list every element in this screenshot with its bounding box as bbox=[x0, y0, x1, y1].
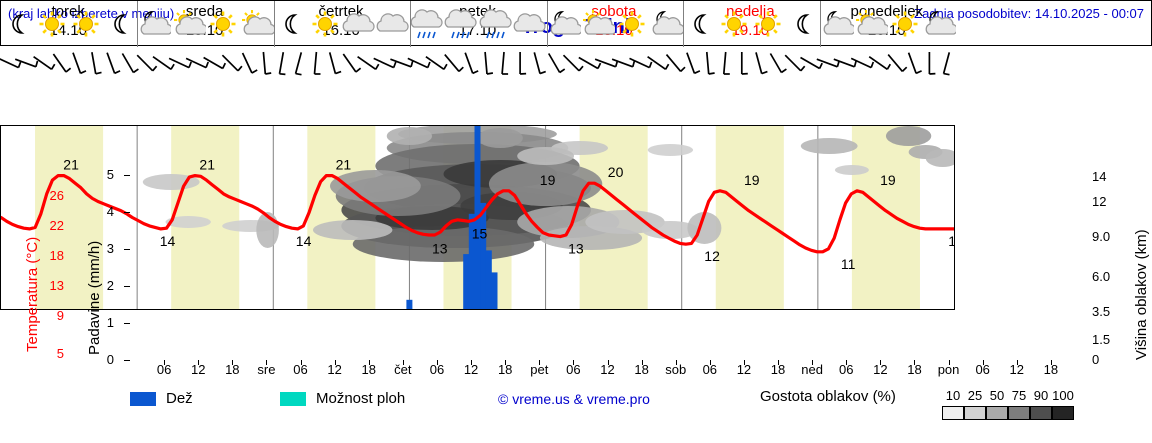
legend-swatch-rain bbox=[130, 392, 156, 406]
rain-bar bbox=[480, 203, 486, 309]
weather-icon-moon-cloud bbox=[547, 1, 581, 47]
x-tickmark bbox=[505, 360, 506, 365]
rain-bar bbox=[406, 300, 412, 309]
x-tickmark bbox=[335, 360, 336, 365]
weather-icon-sun-cloud bbox=[172, 1, 206, 47]
precip-tickmark bbox=[124, 212, 130, 213]
weather-icon-sun bbox=[717, 1, 751, 47]
cloud-height-tick-0: 14 bbox=[1092, 169, 1122, 184]
temperature-point-label: 21 bbox=[336, 157, 352, 173]
cloud-density-swatch-50 bbox=[986, 406, 1008, 420]
weather-icon-moon bbox=[683, 1, 717, 47]
precip-tickmark bbox=[124, 175, 130, 176]
weather-icon-moon-cloud bbox=[137, 1, 171, 47]
x-tickmark bbox=[573, 360, 574, 365]
weather-icon-sun bbox=[206, 1, 240, 47]
axis-title-precipitation: Padavine (mm/h) bbox=[86, 241, 103, 355]
weather-icon-rain-cloud bbox=[410, 1, 444, 47]
precip-tick-4: 1 bbox=[92, 315, 114, 330]
cloud-density-swatch-75 bbox=[1008, 406, 1030, 420]
chart-legend: Dež Možnost ploh © vreme.us & vreme.pro … bbox=[130, 384, 1085, 424]
x-tickmark bbox=[198, 360, 199, 365]
precip-tick-1: 4 bbox=[92, 204, 114, 219]
weather-icon-sun bbox=[308, 1, 342, 47]
weather-icon-cloud bbox=[513, 1, 547, 47]
forecast-chart: 211421142113151913201219111914 bbox=[0, 125, 955, 310]
precip-tickmark bbox=[124, 360, 130, 361]
x-tickmark bbox=[812, 360, 813, 365]
cloud-height-tick-1: 12 bbox=[1092, 194, 1122, 209]
copyright-link[interactable]: © vreme.us & vreme.pro bbox=[498, 391, 650, 407]
weather-icon-row bbox=[0, 0, 1152, 46]
rain-bar bbox=[463, 254, 469, 309]
cloud-density-swatch-25 bbox=[964, 406, 986, 420]
weather-icon-sun-cloud bbox=[581, 1, 615, 47]
temperature-point-label: 21 bbox=[199, 157, 215, 173]
daylight-band bbox=[716, 126, 784, 309]
legend-label-rain: Dež bbox=[166, 390, 193, 407]
cloud-density-swatch-10 bbox=[942, 406, 964, 420]
x-tickmark bbox=[437, 360, 438, 365]
day-separator bbox=[547, 1, 548, 47]
cloud-density-blob bbox=[886, 126, 931, 146]
temperature-point-label: 15 bbox=[472, 225, 488, 241]
temperature-point-label: 12 bbox=[704, 248, 720, 264]
day-separator bbox=[683, 1, 684, 47]
x-tickmark bbox=[608, 360, 609, 365]
x-tickmark bbox=[949, 360, 950, 365]
temperature-point-label: 14 bbox=[296, 233, 312, 249]
weather-icon-sun bbox=[615, 1, 649, 47]
x-tickmark bbox=[880, 360, 881, 365]
x-tickmark bbox=[914, 360, 915, 365]
x-tickmark bbox=[676, 360, 677, 365]
legend-swatch-showers bbox=[280, 392, 306, 406]
cloud-density-swatch-100 bbox=[1052, 406, 1074, 420]
temperature-point-label: 13 bbox=[568, 241, 584, 257]
x-tickmark bbox=[266, 360, 267, 365]
cloud-density-blob bbox=[648, 144, 693, 156]
temperature-point-label: 19 bbox=[744, 172, 760, 188]
weather-icon-sun bbox=[751, 1, 785, 47]
x-tickmark bbox=[369, 360, 370, 365]
temp-tick-5: 5 bbox=[36, 346, 64, 361]
rain-bar bbox=[492, 272, 498, 309]
precip-tickmark bbox=[124, 323, 130, 324]
temperature-point-label: 13 bbox=[432, 241, 448, 257]
x-tickmark bbox=[301, 360, 302, 365]
cloud-height-tick-5: 1.5 bbox=[1092, 332, 1122, 347]
day-separator bbox=[274, 1, 275, 47]
weather-icon-cloud bbox=[376, 1, 410, 47]
cloud-density-swatch-90 bbox=[1030, 406, 1052, 420]
precip-tickmark bbox=[124, 249, 130, 250]
temperature-point-label: 20 bbox=[608, 164, 624, 180]
cloud-density-blob bbox=[801, 138, 858, 154]
weather-icon-sun bbox=[35, 1, 69, 47]
x-tickmark bbox=[471, 360, 472, 365]
weather-icon-moon-cloud bbox=[820, 1, 854, 47]
cloud-height-tick-6: 0 bbox=[1092, 352, 1122, 367]
weather-icon-sun bbox=[69, 1, 103, 47]
weather-icon-sun-cloud bbox=[854, 1, 888, 47]
cloud-density-blob bbox=[835, 165, 869, 175]
chart-canvas: 211421142113151913201219111914 bbox=[1, 126, 954, 309]
legend-label-cloud-density: Gostota oblakov (%) bbox=[760, 388, 896, 405]
cloud-height-tick-4: 3.5 bbox=[1092, 304, 1122, 319]
wind-barbs bbox=[0, 46, 955, 79]
x-tickmark bbox=[642, 360, 643, 365]
legend-label-showers: Možnost ploh bbox=[316, 390, 405, 407]
temp-tick-0: 26 bbox=[36, 188, 64, 203]
weather-icon-sun-cloud bbox=[240, 1, 274, 47]
x-tickmark bbox=[403, 360, 404, 365]
x-tickmark bbox=[1051, 360, 1052, 365]
forecast-icon-panel bbox=[0, 46, 955, 125]
precip-tick-2: 3 bbox=[92, 241, 114, 256]
cloud-density-tick-100: 100 bbox=[1048, 388, 1078, 403]
cloud-density-blob bbox=[517, 147, 574, 165]
axis-title-cloud-height: Višina oblakov (km) bbox=[1133, 229, 1150, 360]
temperature-point-label: 11 bbox=[841, 256, 856, 272]
weather-icon-rain-cloud bbox=[479, 1, 513, 47]
precip-tick-3: 2 bbox=[92, 278, 114, 293]
temperature-point-label: 21 bbox=[63, 157, 79, 173]
temp-tick-2: 18 bbox=[36, 248, 64, 263]
x-tickmark bbox=[539, 360, 540, 365]
weather-icon-moon bbox=[274, 1, 308, 47]
precip-tickmark bbox=[124, 286, 130, 287]
weather-icon-cloud bbox=[342, 1, 376, 47]
cloud-density-blob bbox=[330, 170, 421, 202]
temp-tick-3: 13 bbox=[36, 278, 64, 293]
x-tickmark bbox=[164, 360, 165, 365]
weather-icon-moon-cloud bbox=[922, 1, 956, 47]
rain-bar bbox=[486, 250, 492, 309]
weather-icon-moon bbox=[1, 1, 35, 47]
weather-icon-rain-cloud bbox=[444, 1, 478, 47]
x-tickmark bbox=[778, 360, 779, 365]
x-tickmark bbox=[983, 360, 984, 365]
cloud-density-blob bbox=[478, 128, 523, 148]
temperature-point-label: 19 bbox=[880, 172, 896, 188]
precip-tick-5: 0 bbox=[92, 352, 114, 367]
x-tickmark bbox=[232, 360, 233, 365]
temperature-point-label: 14 bbox=[160, 233, 176, 249]
day-separator bbox=[410, 1, 411, 47]
temp-tick-1: 22 bbox=[36, 218, 64, 233]
cloud-density-blob bbox=[387, 127, 432, 145]
weather-icon-moon bbox=[785, 1, 819, 47]
cloud-height-tick-3: 6.0 bbox=[1092, 269, 1122, 284]
temperature-point-label: 19 bbox=[540, 172, 556, 188]
weather-icon-moon-cloud bbox=[649, 1, 683, 47]
temperature-point-label: 14 bbox=[948, 233, 954, 249]
x-tickmark bbox=[744, 360, 745, 365]
temp-tick-4: 9 bbox=[36, 308, 64, 323]
day-separator bbox=[820, 1, 821, 47]
cloud-density-blob bbox=[313, 220, 392, 240]
x-tickmark bbox=[846, 360, 847, 365]
x-tickmark bbox=[1017, 360, 1018, 365]
weather-icon-moon bbox=[103, 1, 137, 47]
precip-tick-0: 5 bbox=[92, 167, 114, 182]
cloud-height-tick-2: 9.0 bbox=[1092, 229, 1122, 244]
x-tickmark bbox=[710, 360, 711, 365]
wind-barb-row bbox=[0, 46, 1152, 79]
day-separator bbox=[137, 1, 138, 47]
weather-icon-sun bbox=[888, 1, 922, 47]
